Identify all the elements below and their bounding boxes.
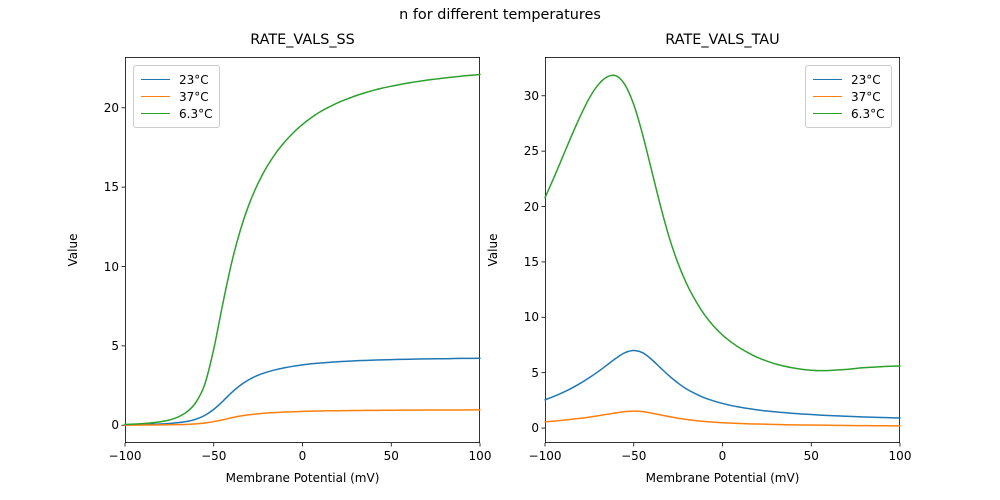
legend-label: 6.3°C [179,107,212,121]
legend-line-swatch [813,79,842,80]
xtick-label: −100 [85,449,165,463]
curve-rate_vals_tau-37c [545,411,900,426]
x-axis-label: Membrane Potential (mV) [545,471,900,485]
legend-label: 23°C [851,73,881,87]
legend-label: 6.3°C [851,107,884,121]
xtick-label: −50 [174,449,254,463]
x-axis-label: Membrane Potential (mV) [125,471,480,485]
curve-rate_vals_tau-23c [545,351,900,418]
y-axis-label: Value [66,190,80,310]
matplotlib-figure: n for different temperatures RATE_VALS_S… [0,0,1000,500]
curve-rate_vals_ss-23c [125,358,480,425]
legend-item: 37°C [813,88,884,105]
subplot-title-rate-vals-ss: RATE_VALS_SS [125,31,480,49]
ytick-label: 30 [479,89,539,103]
legend-label: 23°C [179,73,209,87]
xtick-label: 0 [263,449,343,463]
legend-line-swatch [141,96,170,97]
ytick-label: 5 [59,339,119,353]
ytick-label: 25 [479,144,539,158]
legend-line-swatch [813,113,842,114]
legend-line-swatch [141,113,170,114]
legend-line-swatch [813,96,842,97]
legend-line-swatch [141,79,170,80]
ytick-label: 0 [59,418,119,432]
legend-label: 37°C [851,90,881,104]
ytick-label: 10 [479,310,539,324]
subplot-title-rate-vals-tau: RATE_VALS_TAU [545,31,900,49]
ytick-label: 5 [479,366,539,380]
legend-item: 23°C [813,71,884,88]
xtick-label: −100 [505,449,585,463]
xtick-label: 50 [351,449,431,463]
legend-rate_vals_ss[interactable]: 23°C37°C6.3°C [133,65,220,128]
figure-suptitle: n for different temperatures [0,6,1000,24]
legend-item: 6.3°C [813,105,884,122]
legend-rate_vals_tau[interactable]: 23°C37°C6.3°C [805,65,892,128]
xtick-label: 0 [683,449,763,463]
legend-item: 37°C [141,88,212,105]
legend-item: 23°C [141,71,212,88]
xtick-label: 100 [860,449,940,463]
y-axis-label: Value [486,190,500,310]
xtick-label: −50 [594,449,674,463]
legend-label: 37°C [179,90,209,104]
ytick-label: 0 [479,421,539,435]
ytick-label: 20 [59,101,119,115]
legend-item: 6.3°C [141,105,212,122]
xtick-label: 50 [771,449,851,463]
